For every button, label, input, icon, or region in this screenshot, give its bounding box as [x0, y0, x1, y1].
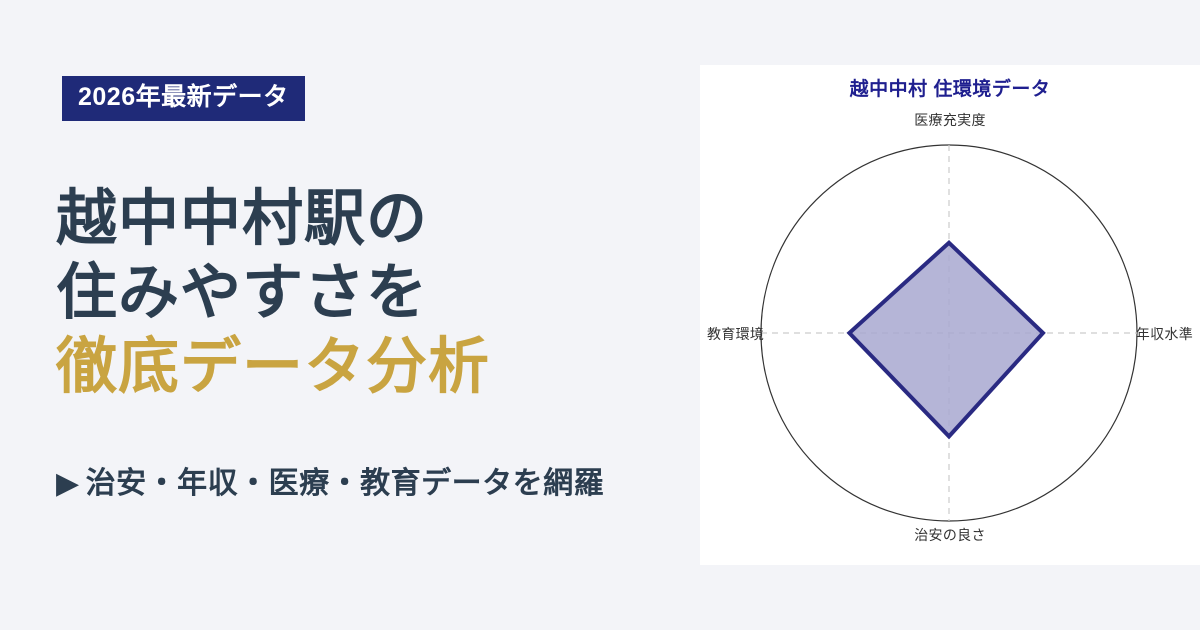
radar-data-polygon — [849, 243, 1043, 437]
axis-label-income: 年収水準 — [1136, 324, 1193, 344]
triangle-right-icon: ▶ — [56, 466, 80, 502]
radar-chart-panel: 越中中村 住環境データ 医療充実度 年収水準 治安の良さ 教育環境 — [700, 65, 1200, 565]
subtitle-text: 治安・年収・医療・教育データを網羅 — [86, 467, 605, 500]
axis-label-education: 教育環境 — [707, 324, 764, 344]
axis-label-medical: 医療充実度 — [700, 110, 1200, 130]
subtitle: ▶治安・年収・医療・教育データを網羅 — [56, 466, 604, 502]
hero-left-panel: 2026年最新データ 越中中村駅の 住みやすさを 徹底データ分析 ▶治安・年収・… — [0, 0, 700, 630]
headline-line-3: 徹底データ分析 — [56, 330, 676, 404]
headline-line-1: 越中中村駅の — [56, 182, 676, 256]
radar-chart-svg — [700, 65, 1200, 565]
date-badge: 2026年最新データ — [62, 76, 305, 121]
headline-line-2: 住みやすさを — [56, 256, 676, 330]
page-title: 越中中村駅の 住みやすさを 徹底データ分析 — [56, 182, 676, 403]
axis-label-safety: 治安の良さ — [700, 525, 1200, 545]
